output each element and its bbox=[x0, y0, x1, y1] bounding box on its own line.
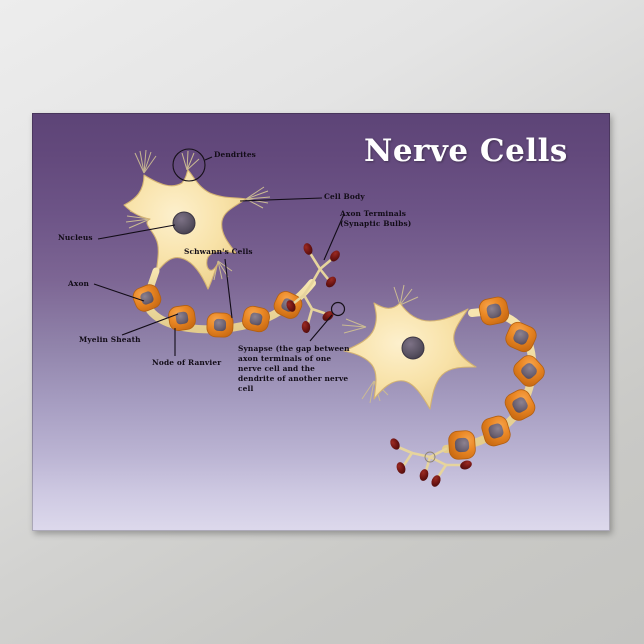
label-nucleus: Nucleus bbox=[58, 233, 93, 243]
schwann-cell-chain-two bbox=[448, 295, 548, 459]
nerve-cells-poster: Nerve Cells Dendrites Cell Body Axon Ter… bbox=[32, 113, 610, 531]
label-synapse: Synapse (the gap between axon terminals … bbox=[238, 344, 350, 394]
synaptic-bulb bbox=[321, 309, 336, 323]
synapse-marker-circle bbox=[332, 303, 345, 316]
dendrite-branches-two-top bbox=[394, 285, 418, 305]
dendrite-branches-two-left bbox=[342, 319, 366, 333]
synaptic-bulb bbox=[430, 474, 443, 488]
synaptic-bulb bbox=[459, 459, 473, 471]
label-node-of-ranvier: Node of Ranvier bbox=[152, 358, 221, 368]
schwann-nucleus bbox=[214, 319, 226, 331]
nucleus-two bbox=[402, 337, 424, 359]
nucleus-one bbox=[173, 212, 195, 234]
label-axon-terminals: Axon Terminals (Synaptic Bulbs) bbox=[340, 209, 460, 229]
myelinated-axon-one bbox=[130, 282, 312, 337]
schwann-nucleus bbox=[175, 311, 189, 325]
label-cell-body: Cell Body bbox=[324, 192, 365, 202]
neuron-one bbox=[124, 149, 270, 303]
poster-title: Nerve Cells bbox=[364, 133, 568, 169]
dendrite-branches-circled bbox=[182, 151, 199, 170]
dendrite-branches-upper-left bbox=[135, 150, 156, 173]
leader-dendrites bbox=[205, 157, 212, 160]
dendrite-branches-right bbox=[246, 187, 270, 208]
synaptic-bulb bbox=[302, 242, 314, 256]
label-schwanns-cells: Schwann's Cells bbox=[184, 247, 253, 257]
neuron-two bbox=[342, 285, 476, 409]
label-axon: Axon bbox=[68, 279, 89, 289]
myelinated-axon-two bbox=[446, 295, 548, 459]
label-dendrites: Dendrites bbox=[214, 150, 256, 160]
dendrite-branches-lower bbox=[214, 261, 232, 280]
label-axon-terminals-line2: (Synaptic Bulbs) bbox=[340, 219, 411, 228]
screenshot-root: Nerve Cells Dendrites Cell Body Axon Ter… bbox=[0, 0, 644, 644]
nerve-cell-diagram bbox=[32, 113, 610, 531]
label-axon-terminals-line1: Axon Terminals bbox=[340, 209, 406, 218]
schwann-nucleus bbox=[455, 438, 470, 453]
axon-terminals-one bbox=[285, 242, 345, 333]
label-myelin-sheath: Myelin Sheath bbox=[79, 335, 141, 345]
schwann-cell-chain-one bbox=[130, 282, 304, 337]
leader-synapse bbox=[310, 315, 332, 341]
synaptic-bulb bbox=[418, 468, 429, 482]
leader-schwann bbox=[225, 259, 232, 318]
